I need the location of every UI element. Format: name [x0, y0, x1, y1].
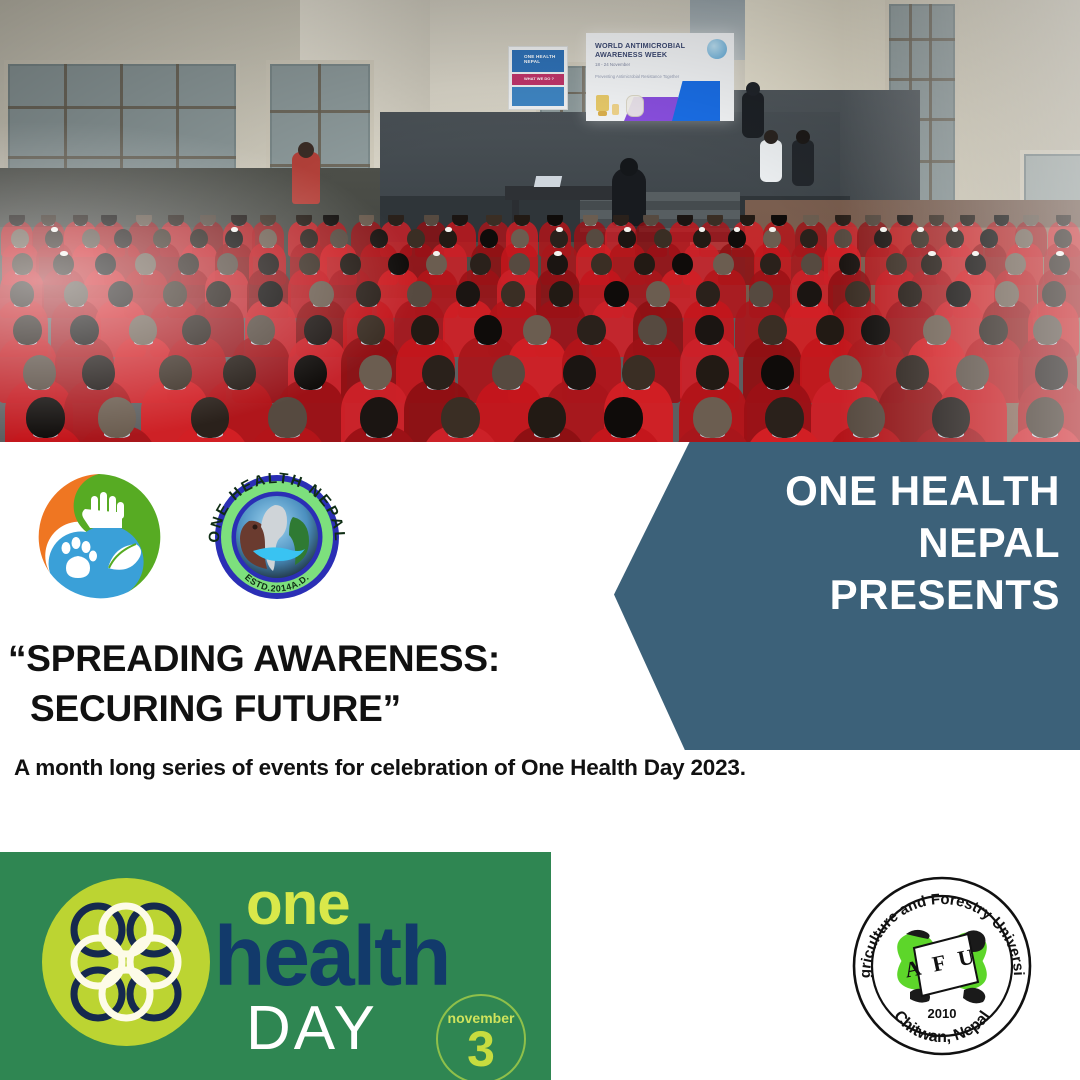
audience-member-head: [217, 253, 238, 275]
person-dark-shirt-head: [796, 130, 810, 144]
audience-member-head: [407, 229, 425, 248]
audience-member-head: [923, 315, 952, 345]
one-health-triskelion-logo: [28, 466, 170, 608]
audience-member-head: [470, 253, 491, 275]
audience-member-head: [370, 229, 388, 248]
slide-title: WORLD ANTIMICROBIAL AWARENESS WEEK: [595, 41, 705, 59]
audience-member-hair-ribbon: [880, 227, 887, 232]
audience-member-head: [357, 315, 386, 345]
wall-poster-ribbon: WHAT WE DO ?: [512, 74, 564, 85]
audience-member-head: [309, 281, 334, 307]
audience-member-head: [956, 355, 989, 390]
audience-member-head: [995, 281, 1020, 307]
audience-member-head: [492, 355, 525, 390]
audience-member-head: [474, 315, 503, 345]
audience-member-head: [613, 215, 629, 226]
date-badge: november 3: [436, 994, 526, 1080]
audience-member-head: [800, 229, 818, 248]
audience-member-hair-ribbon: [231, 227, 238, 232]
audience-member-head: [921, 253, 942, 275]
audience-member-head: [861, 315, 890, 345]
person-white-shirt-head: [764, 130, 778, 144]
audience-member-head: [388, 253, 409, 275]
audience-member-head: [168, 215, 184, 226]
audience-member-head: [816, 315, 845, 345]
audience-member-head: [845, 281, 870, 307]
audience-member-head: [1042, 281, 1067, 307]
page-subtitle: A month long series of events for celebr…: [14, 755, 874, 781]
audience-member-hair-ribbon: [699, 227, 706, 232]
audience-member-head: [514, 215, 530, 226]
headline-line-1: “SPREADING AWARENESS:: [8, 638, 500, 679]
projector-screen: WORLD ANTIMICROBIAL AWARENESS WEEK 18 - …: [586, 33, 734, 121]
audience-member-head: [501, 281, 526, 307]
audience-member-head: [441, 397, 479, 438]
slide-shape-blue: [672, 81, 720, 121]
audience-member-head: [622, 355, 655, 390]
audience-member-head: [693, 397, 731, 438]
audience-member-head: [604, 397, 642, 438]
audience-member-head: [965, 253, 986, 275]
audience-member-head: [268, 397, 306, 438]
presents-banner-text: ONE HEALTH NEPAL PRESENTS: [700, 465, 1060, 621]
audience-member-head: [304, 315, 333, 345]
audience-member-head: [70, 315, 99, 345]
person-red-jacket-aisle: [292, 152, 320, 204]
afu-year: 2010: [928, 1006, 957, 1021]
audience-member-head: [511, 229, 529, 248]
audience-member-head: [604, 281, 629, 307]
one-health-day-logo: one health DAY november 3: [0, 852, 551, 1080]
audience-member-head: [932, 397, 970, 438]
audience-member-hair-ribbon: [51, 227, 58, 232]
audience-member-head: [946, 281, 971, 307]
audience-member-hair-ribbon: [624, 227, 631, 232]
audience-member-head: [638, 315, 667, 345]
audience-member-head: [549, 281, 574, 307]
audience-member-head: [98, 397, 136, 438]
audience-member-head: [108, 281, 133, 307]
audience-member-head: [95, 253, 116, 275]
audience-member-head: [64, 281, 89, 307]
audience-member-head: [834, 229, 852, 248]
audience-member-head: [839, 253, 860, 275]
audience-member-head: [9, 215, 25, 226]
operator-seated-head: [620, 158, 638, 176]
audience-member-head: [407, 281, 432, 307]
audience-member-head: [129, 315, 158, 345]
audience-member-head: [528, 397, 566, 438]
audience-member-head: [803, 215, 819, 226]
audience-member-head: [182, 315, 211, 345]
audience-member-head: [356, 281, 381, 307]
audience-member-hair-ribbon: [952, 227, 959, 232]
audience-member-head: [696, 281, 721, 307]
audience-member-head: [896, 355, 929, 390]
audience-member-head: [1033, 315, 1062, 345]
page-title: “SPREADING AWARENESS: SECURING FUTURE”: [8, 634, 608, 734]
audience-member-head: [11, 229, 29, 248]
student-audience: [0, 215, 1080, 442]
audience-member-head: [758, 315, 787, 345]
audience-member-head: [247, 315, 276, 345]
audience-member-head: [53, 253, 74, 275]
audience-member-head: [359, 355, 392, 390]
audience-member-hair-ribbon: [734, 227, 741, 232]
audience-member-head: [330, 229, 348, 248]
one-health-day-wordmark: one health DAY november 3: [218, 872, 548, 1062]
one-health-nepal-seal: ONE HEALTH NEPAL ESTD.2014A.D.: [197, 455, 357, 615]
audience-member-head: [672, 253, 693, 275]
audience-member-head: [801, 253, 822, 275]
audience-member-head: [12, 253, 33, 275]
poster-canvas: ONE HEALTH NEPAL WHAT WE DO ? WORLD ANTI…: [0, 0, 1080, 1080]
audience-member-head: [886, 253, 907, 275]
audience-member-head: [980, 229, 998, 248]
audience-member-head: [23, 355, 56, 390]
banner-line-2: NEPAL: [700, 517, 1060, 569]
audience-member-head: [153, 229, 171, 248]
wall-poster: ONE HEALTH NEPAL WHAT WE DO ?: [508, 46, 568, 110]
audience-member-head: [26, 397, 64, 438]
person-dark-shirt: [792, 140, 814, 186]
audience-member-head: [294, 355, 327, 390]
audience-member-head: [159, 355, 192, 390]
audience-member-head: [163, 281, 188, 307]
word-day: DAY: [246, 998, 378, 1060]
audience-member-head: [509, 253, 530, 275]
audience-member-head: [865, 215, 881, 226]
audience-member-head: [797, 281, 822, 307]
audience-member-head: [82, 355, 115, 390]
one-health-day-mark: [42, 878, 210, 1046]
audience-member-head: [223, 355, 256, 390]
audience-member-hair-ribbon: [917, 227, 924, 232]
audience-member-head: [897, 215, 913, 226]
audience-member-head: [426, 253, 447, 275]
banner-line-3: PRESENTS: [700, 569, 1060, 621]
audience-member-head: [10, 281, 35, 307]
audience-member-head: [1005, 253, 1026, 275]
audience-member-hair-ribbon: [928, 251, 936, 257]
audience-member-head: [388, 215, 404, 226]
word-health: health: [214, 914, 449, 998]
person-red-jacket-head: [298, 142, 314, 158]
speaker-standing: [742, 92, 764, 138]
audience-member-head: [136, 215, 152, 226]
audience-member-head: [696, 355, 729, 390]
audience-member-head: [586, 229, 604, 248]
audience-member-head: [634, 253, 655, 275]
audience-member-head: [829, 355, 862, 390]
audience-member-head: [1023, 215, 1039, 226]
laptop: [534, 176, 562, 187]
audience-member-head: [259, 229, 277, 248]
audience-member-head: [178, 253, 199, 275]
audience-member-head: [299, 253, 320, 275]
audience-member-head: [452, 215, 468, 226]
audience-member-head: [258, 281, 283, 307]
audience-member-head: [422, 355, 455, 390]
person-white-shirt: [760, 140, 782, 182]
audience-member-head: [231, 215, 247, 226]
audience-member-hair-ribbon: [769, 227, 776, 232]
audience-member-head: [1054, 229, 1072, 248]
audience-member-head: [114, 229, 132, 248]
audience-member-head: [547, 215, 563, 226]
audience-member-head: [13, 315, 42, 345]
slide-globe-icon: [707, 39, 727, 59]
audience-member-hair-ribbon: [445, 227, 452, 232]
slide-dates: 18 - 24 November: [595, 62, 630, 67]
audience-member-head: [360, 397, 398, 438]
audience-member-head: [695, 315, 724, 345]
audience-member-head: [191, 397, 229, 438]
audience-member-head: [847, 397, 885, 438]
audience-member-head: [1035, 355, 1068, 390]
audience-member-head: [749, 281, 774, 307]
audience-member-head: [300, 229, 318, 248]
audience-member-head: [411, 315, 440, 345]
audience-member-head: [1026, 397, 1064, 438]
audience-member-head: [707, 215, 723, 226]
speaker-standing-head: [746, 82, 760, 96]
audience-member-head: [340, 253, 361, 275]
date-badge-day: 3: [438, 1024, 524, 1074]
event-photograph: ONE HEALTH NEPAL WHAT WE DO ? WORLD ANTI…: [0, 0, 1080, 442]
audience-member-head: [424, 215, 440, 226]
audience-member-head: [771, 215, 787, 226]
audience-member-hair-ribbon: [556, 227, 563, 232]
audience-member-head: [960, 215, 976, 226]
audience-member-head: [898, 281, 923, 307]
audience-member-head: [677, 215, 693, 226]
wall-poster-body: [512, 87, 564, 106]
audience-member-head: [761, 355, 794, 390]
wall-poster-org: ONE HEALTH NEPAL: [524, 54, 564, 64]
slide-tagline: Preventing Antimicrobial Resistance Toge…: [595, 74, 679, 79]
audience-member-head: [82, 229, 100, 248]
audience-member-head: [643, 215, 659, 226]
audience-member-head: [979, 315, 1008, 345]
audience-member-head: [591, 253, 612, 275]
audience-member-head: [523, 315, 552, 345]
audience-member-head: [190, 229, 208, 248]
audience-member-head: [765, 397, 803, 438]
audience-member-head: [654, 229, 672, 248]
wall-poster-ribbon-text: WHAT WE DO ?: [524, 76, 554, 81]
banner-line-1: ONE HEALTH: [700, 465, 1060, 517]
audience-member-head: [760, 253, 781, 275]
audience-member-head: [563, 355, 596, 390]
wall-poster-header: ONE HEALTH NEPAL: [512, 50, 564, 72]
slide-icon-group: [596, 91, 658, 117]
audience-member-head: [577, 315, 606, 345]
audience-member-head: [206, 281, 231, 307]
audience-member-head: [646, 281, 671, 307]
audience-member-head: [835, 215, 851, 226]
audience-member-head: [296, 215, 312, 226]
agriculture-forestry-university-seal: A F U 2010 Agriculture and Forestry Univ…: [848, 872, 1036, 1060]
audience-member-head: [1015, 229, 1033, 248]
audience-member-head: [456, 281, 481, 307]
headline-line-2: SECURING FUTURE”: [8, 684, 608, 734]
